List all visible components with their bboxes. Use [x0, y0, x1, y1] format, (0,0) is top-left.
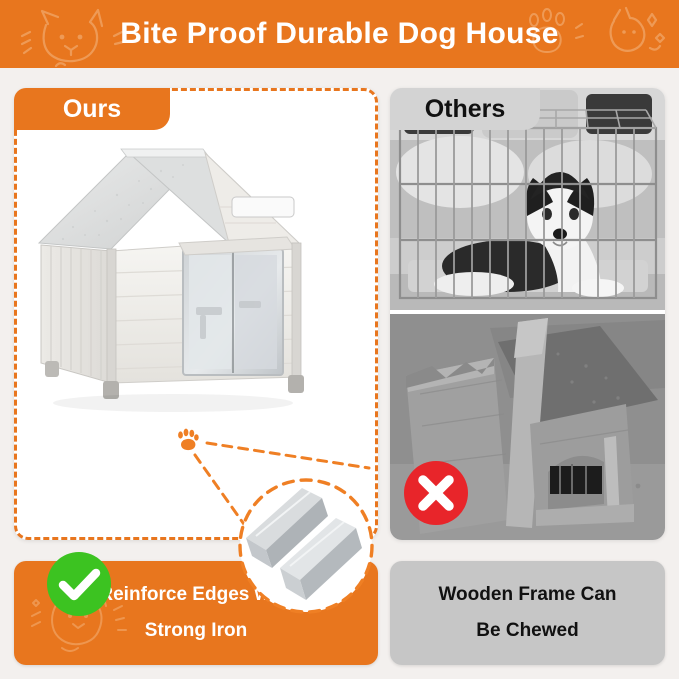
ours-caption-line-2: Strong Iron	[145, 620, 247, 642]
others-caption-card: Wooden Frame Can Be Chewed	[390, 561, 665, 665]
ours-panel	[14, 88, 378, 540]
red-x-icon	[402, 459, 470, 527]
page-title: Bite Proof Durable Dog House	[0, 0, 679, 68]
header-banner: Bite Proof Durable Dog House	[0, 0, 679, 68]
ours-label-tag: Ours	[14, 88, 170, 130]
paw-print-icon	[175, 428, 201, 454]
others-caption-line-2: Be Chewed	[476, 620, 578, 642]
others-caption-line-1: Wooden Frame Can	[438, 584, 616, 606]
others-label-tag: Others	[390, 88, 540, 130]
iron-reinforcement-callout	[236, 476, 376, 616]
our-doghouse-photo	[33, 131, 363, 421]
green-check-icon	[45, 550, 113, 618]
infographic-page: Bite Proof Durable Dog House	[0, 0, 679, 679]
others-caption-text: Wooden Frame Can Be Chewed	[390, 561, 665, 665]
